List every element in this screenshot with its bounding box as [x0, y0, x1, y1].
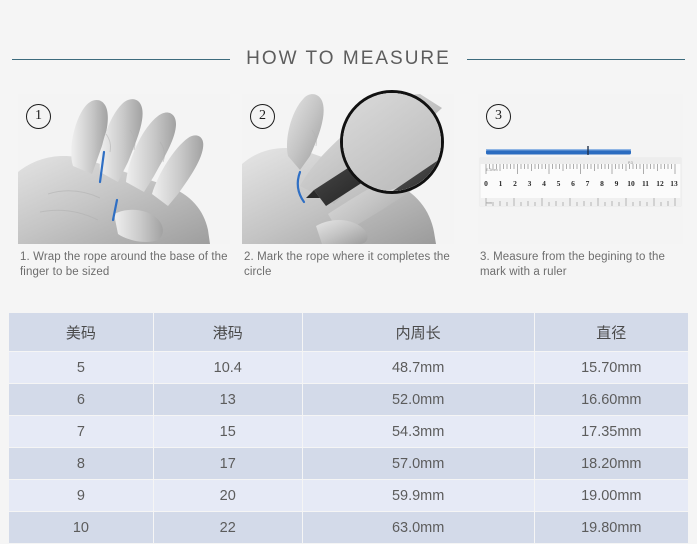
svg-text:5: 5: [557, 179, 561, 188]
step-2-caption: 2. Mark the rope where it completes the …: [244, 250, 454, 280]
svg-text:4: 4: [542, 179, 546, 188]
measured-rope-bar: [486, 150, 631, 155]
cell-diameter: 17.35mm: [535, 416, 688, 447]
cell-hk-size: 20: [154, 480, 302, 511]
magnifier-content: [340, 90, 444, 194]
step-3-caption: 3. Measure from the begining to the mark…: [480, 250, 690, 280]
column-header-diameter: 直径: [535, 313, 688, 351]
svg-text:2: 2: [513, 179, 517, 188]
table-header-row: 美码 港码 内周长 直径: [9, 313, 688, 351]
cell-hk-size: 10.4: [154, 352, 302, 383]
step-1-photo: 1: [18, 94, 230, 244]
step-2-photo: 2: [242, 94, 454, 244]
cell-circumference: 52.0mm: [303, 384, 534, 415]
title-rule-left: [12, 59, 230, 60]
step-1-caption: 1. Wrap the rope around the base of the …: [20, 250, 230, 280]
column-header-us-size: 美码: [9, 313, 153, 351]
page-title: HOW TO MEASURE: [246, 48, 451, 70]
page-title-block: HOW TO MEASURE: [0, 42, 697, 76]
svg-text:mm: mm: [486, 201, 492, 205]
step-2: 2 2. Mark the rope where it completes th…: [242, 94, 454, 294]
column-header-hk-size: 港码: [154, 313, 302, 351]
svg-text:1: 1: [499, 179, 503, 188]
ring-size-table: 美码 港码 内周长 直径 5 10.4 48.7mm 15.70mm 6 13 …: [8, 312, 689, 544]
svg-text:12: 12: [656, 179, 664, 188]
svg-text:8: 8: [600, 179, 604, 188]
cell-circumference: 59.9mm: [303, 480, 534, 511]
step-3-photo: 0 1 2 3 4 5 6 7 8 9 10 11 12 13: [478, 94, 683, 244]
svg-text:3: 3: [528, 179, 532, 188]
cell-us-size: 7: [9, 416, 153, 447]
table-row: 7 15 54.3mm 17.35mm: [9, 416, 688, 447]
cell-us-size: 8: [9, 448, 153, 479]
title-rule-right: [467, 59, 685, 60]
magnifier-inset: [340, 90, 444, 194]
cell-circumference: 48.7mm: [303, 352, 534, 383]
cell-circumference: 54.3mm: [303, 416, 534, 447]
cell-diameter: 16.60mm: [535, 384, 688, 415]
table-row: 6 13 52.0mm 16.60mm: [9, 384, 688, 415]
table-row: 9 20 59.9mm 19.00mm: [9, 480, 688, 511]
step-2-badge: 2: [250, 104, 275, 129]
step-1-badge: 1: [26, 104, 51, 129]
svg-text:0: 0: [484, 179, 488, 188]
svg-text:11: 11: [642, 179, 649, 188]
column-header-circumference: 内周长: [303, 313, 534, 351]
cell-diameter: 15.70mm: [535, 352, 688, 383]
cell-hk-size: 22: [154, 512, 302, 543]
cell-us-size: 5: [9, 352, 153, 383]
svg-text:13: 13: [670, 179, 678, 188]
cell-diameter: 19.80mm: [535, 512, 688, 543]
cell-diameter: 18.20mm: [535, 448, 688, 479]
table-row: 5 10.4 48.7mm 15.70mm: [9, 352, 688, 383]
cell-circumference: 57.0mm: [303, 448, 534, 479]
cell-diameter: 19.00mm: [535, 480, 688, 511]
cell-hk-size: 13: [154, 384, 302, 415]
svg-text:P.3: P.3: [628, 161, 633, 165]
step-1: 1 1. Wrap the rope around the base of th…: [18, 94, 230, 294]
steps-row: 1 1. Wrap the rope around the base of th…: [0, 94, 697, 294]
cell-us-size: 10: [9, 512, 153, 543]
cell-us-size: 6: [9, 384, 153, 415]
step-3-badge: 3: [486, 104, 511, 129]
cell-hk-size: 15: [154, 416, 302, 447]
cell-us-size: 9: [9, 480, 153, 511]
svg-text:6: 6: [571, 179, 575, 188]
table-row: 8 17 57.0mm 18.20mm: [9, 448, 688, 479]
svg-text:E-5mm: E-5mm: [486, 168, 498, 172]
svg-text:9: 9: [615, 179, 619, 188]
cell-circumference: 63.0mm: [303, 512, 534, 543]
step-3: 0 1 2 3 4 5 6 7 8 9 10 11 12 13: [478, 94, 683, 294]
svg-text:7: 7: [586, 179, 590, 188]
svg-text:10: 10: [627, 179, 635, 188]
cell-hk-size: 17: [154, 448, 302, 479]
table-row: 10 22 63.0mm 19.80mm: [9, 512, 688, 543]
